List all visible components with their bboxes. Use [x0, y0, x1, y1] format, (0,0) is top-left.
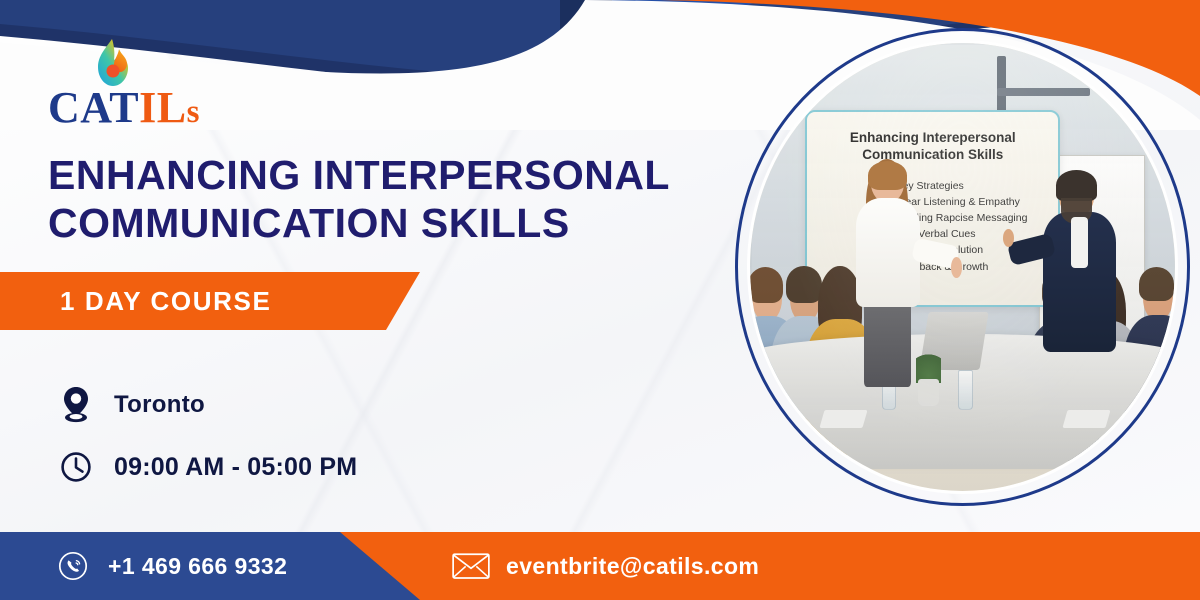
photo-ring-inner: Enhancing Interepersonal Communication S… — [747, 40, 1178, 494]
ceiling-beam-horizontal — [997, 88, 1091, 96]
event-banner: CATILs ENHANCING INTERPERSONAL COMMUNICA… — [0, 0, 1200, 600]
water-glass — [958, 370, 972, 410]
footer-email[interactable]: eventbrite@catils.com — [452, 532, 759, 600]
envelope-icon — [452, 551, 490, 581]
footer-phone-label: +1 469 666 9332 — [108, 553, 287, 580]
page-title: ENHANCING INTERPERSONAL COMMUNICATION SK… — [48, 152, 708, 248]
logo-text-cat: CAT — [48, 83, 139, 132]
course-duration-ribbon: 1 DAY COURSE — [0, 272, 420, 330]
paper-sheet — [820, 410, 868, 428]
logo[interactable]: CATILs — [48, 38, 228, 130]
title-line-1: ENHANCING INTERPERSONAL — [48, 152, 670, 198]
title-line-2: COMMUNICATION SKILLS — [48, 200, 708, 248]
phone-icon — [54, 550, 92, 582]
footer-phone[interactable]: +1 469 666 9332 — [54, 532, 287, 600]
logo-text-ils: ILs — [139, 83, 200, 132]
event-details: Toronto 09:00 AM - 05:00 PM — [56, 378, 576, 494]
paper-sheet — [1062, 410, 1110, 428]
location-pin-icon — [56, 386, 96, 424]
footer-email-label: eventbrite@catils.com — [506, 553, 759, 580]
footer-bar: +1 469 666 9332 eventbrite@catils.com — [0, 532, 1200, 600]
detail-time-label: 09:00 AM - 05:00 PM — [114, 453, 357, 482]
training-session-photo: Enhancing Interepersonal Communication S… — [750, 43, 1175, 491]
detail-row-time: 09:00 AM - 05:00 PM — [56, 440, 576, 494]
plant-pot — [918, 379, 939, 406]
photo-circle: Enhancing Interepersonal Communication S… — [735, 28, 1190, 506]
slide-title-line-1: Enhancing Interepersonal — [850, 130, 1016, 145]
detail-location-label: Toronto — [114, 391, 205, 419]
slide-title: Enhancing Interepersonal Communication S… — [822, 130, 1043, 164]
clock-icon — [56, 451, 96, 483]
logo-wordmark: CATILs — [48, 86, 200, 130]
detail-row-location: Toronto — [56, 378, 576, 432]
ribbon-label: 1 DAY COURSE — [60, 286, 271, 317]
